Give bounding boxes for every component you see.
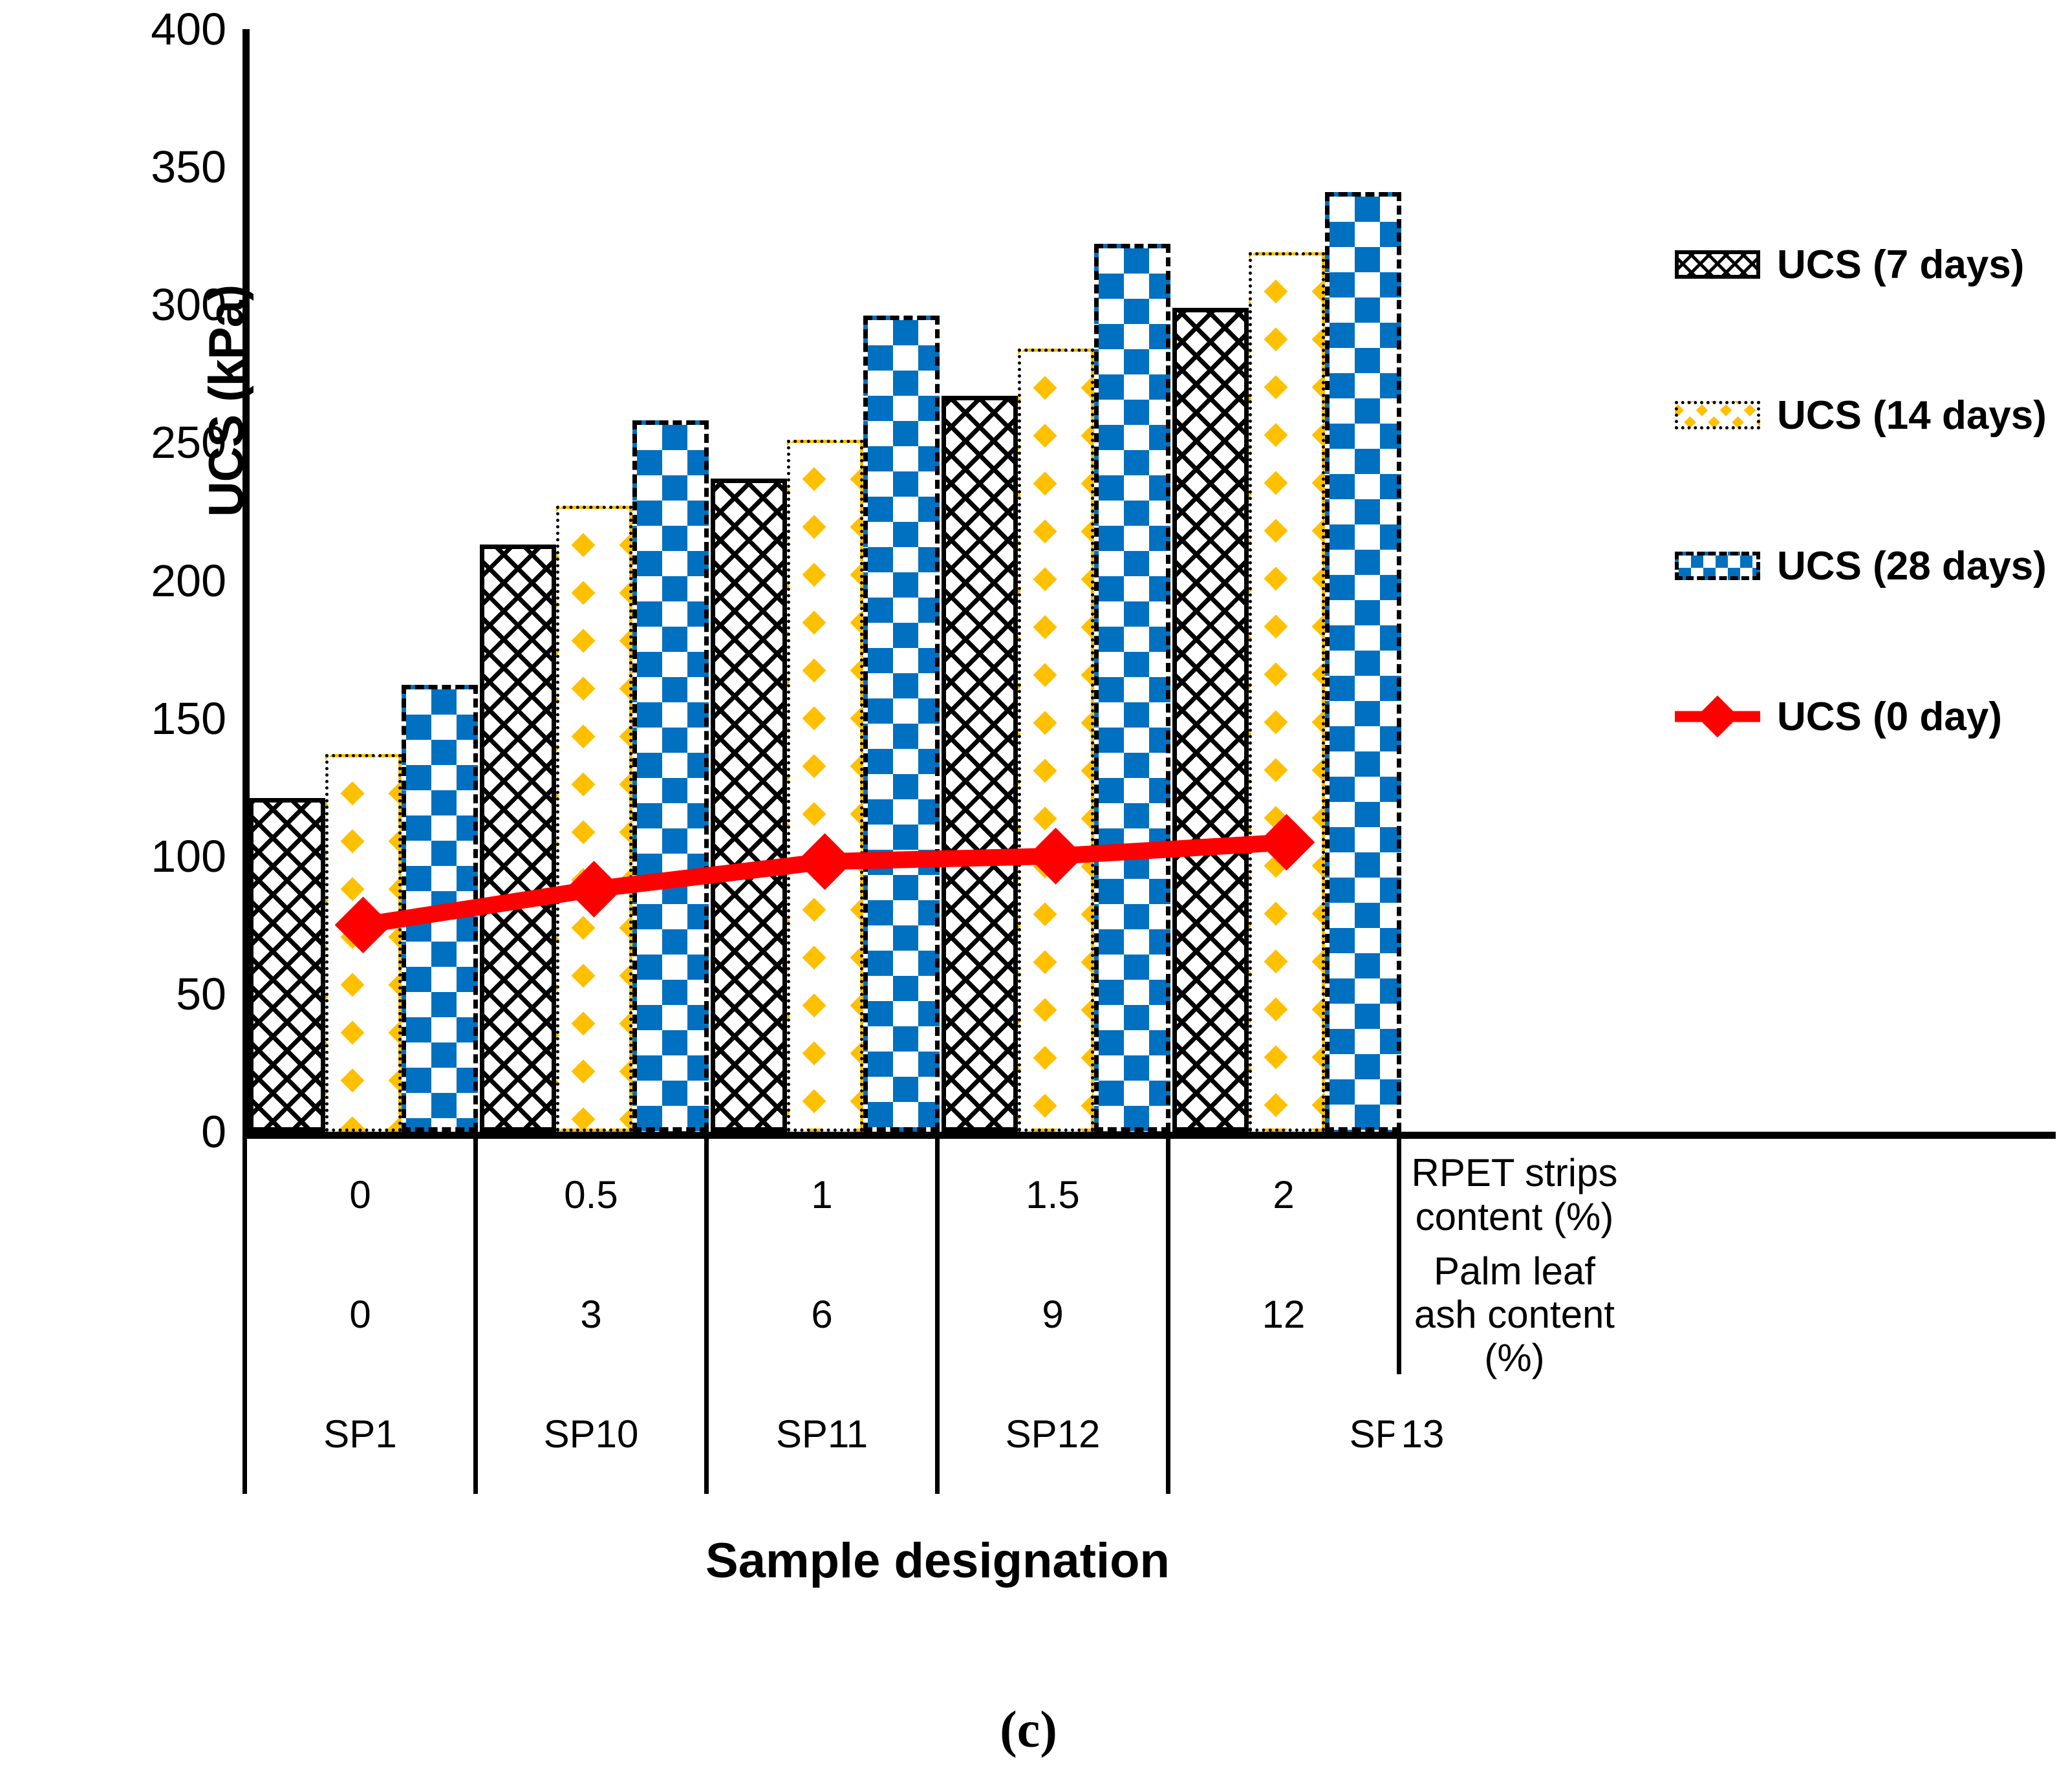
cell-sample-name: SP1: [247, 1374, 473, 1494]
legend-item-ucs-28-days[interactable]: UCS (28 days): [1675, 524, 2050, 607]
legend-item-ucs-0-day[interactable]: UCS (0 day): [1675, 675, 2050, 758]
diamond-pattern-overlay: [1021, 352, 1091, 1128]
figure-caption: (c): [0, 1701, 2057, 1760]
cell-sample-name: SP11: [709, 1374, 935, 1494]
table-column-sp10: 0.53SP10: [473, 1135, 704, 1494]
plot-area: [248, 29, 1633, 1132]
diamond-pattern-overlay: [328, 757, 398, 1128]
bar-ucs-28-days: [632, 420, 709, 1132]
bar-group-sp11: [709, 29, 940, 1132]
chart-figure: UCS (kPa) 050100150200250300350400 00SP1…: [0, 0, 2057, 1792]
row-label-ash: Palm leaf ash content (%): [1401, 1255, 1628, 1374]
bar-group-sp10: [479, 29, 709, 1132]
y-tick-label: 400: [61, 3, 226, 55]
row-label-rpet: RPET strips content (%): [1401, 1135, 1628, 1255]
bar-ucs-7-days: [480, 545, 556, 1132]
table-divider-mask: [1394, 1374, 1403, 1497]
bar-group-sp1: [248, 29, 479, 1132]
cell-rpet-content: 0.5: [478, 1135, 704, 1255]
cell-ash-content: 3: [478, 1255, 704, 1374]
legend-diamond-marker-icon: [1696, 695, 1738, 737]
cell-sample-name: SP10: [478, 1374, 704, 1494]
cell-rpet-content: 2: [1170, 1135, 1397, 1255]
table-column-sp11: 16SP11: [704, 1135, 935, 1494]
chart-legend: UCS (7 days)UCS (14 days)UCS (28 days)UC…: [1675, 223, 2050, 826]
legend-item-ucs-7-days[interactable]: UCS (7 days): [1675, 223, 2050, 306]
bar-ucs-7-days: [711, 479, 787, 1132]
diamond-pattern-overlay: [559, 509, 629, 1128]
bar-ucs-7-days: [1172, 308, 1249, 1132]
table-column-sp1: 00SP1: [242, 1135, 473, 1494]
legend-label: UCS (0 day): [1777, 694, 2002, 740]
hatch-crosshatch-swatch: [1675, 250, 1760, 279]
x-axis-title: Sample designation: [242, 1533, 1633, 1589]
diamond-yellow-swatch: [1675, 401, 1760, 429]
bar-ucs-28-days: [402, 685, 478, 1132]
bar-ucs-28-days: [863, 316, 940, 1132]
bar-ucs-7-days: [942, 396, 1018, 1132]
legend-label: UCS (28 days): [1777, 543, 2047, 589]
red-line-diamond-swatch: [1675, 697, 1760, 736]
legend-item-ucs-14-days[interactable]: UCS (14 days): [1675, 374, 2050, 457]
cell-rpet-content: 1: [709, 1135, 935, 1255]
cell-ash-content: 6: [709, 1255, 935, 1374]
bar-ucs-28-days: [1325, 192, 1401, 1132]
y-tick-label: 100: [61, 830, 226, 882]
bar-ucs-28-days: [1094, 244, 1170, 1132]
bar-ucs-14-days: [556, 506, 632, 1132]
cell-ash-content: 0: [247, 1255, 473, 1374]
diamond-pattern-overlay: [1252, 255, 1322, 1128]
diamond-pattern-overlay: [790, 443, 860, 1128]
bar-group-sp12: [940, 29, 1171, 1132]
cell-rpet-content: 1.5: [940, 1135, 1166, 1255]
legend-label: UCS (7 days): [1777, 242, 2024, 288]
y-tick-label: 50: [61, 968, 226, 1020]
bar-ucs-14-days: [325, 754, 402, 1132]
checker-blue-swatch: [1675, 552, 1760, 580]
bar-ucs-7-days: [249, 798, 325, 1132]
cell-sample-name: SP12: [940, 1374, 1166, 1494]
bar-group-sp13: [1171, 29, 1402, 1132]
bar-ucs-14-days: [787, 440, 863, 1132]
legend-label: UCS (14 days): [1777, 393, 2047, 438]
cell-ash-content: 9: [940, 1255, 1166, 1374]
cell-rpet-content: 0: [247, 1135, 473, 1255]
bar-ucs-14-days: [1249, 252, 1325, 1132]
category-table: 00SP10.53SP1016SP111.59SP12212RPET strip…: [242, 1135, 2056, 1494]
bar-ucs-14-days: [1018, 349, 1094, 1132]
cell-ash-content: 12: [1170, 1255, 1397, 1374]
y-tick-label: 150: [61, 693, 226, 744]
y-tick-label: 0: [61, 1106, 226, 1158]
table-column-sp12: 1.59SP12: [935, 1135, 1166, 1494]
